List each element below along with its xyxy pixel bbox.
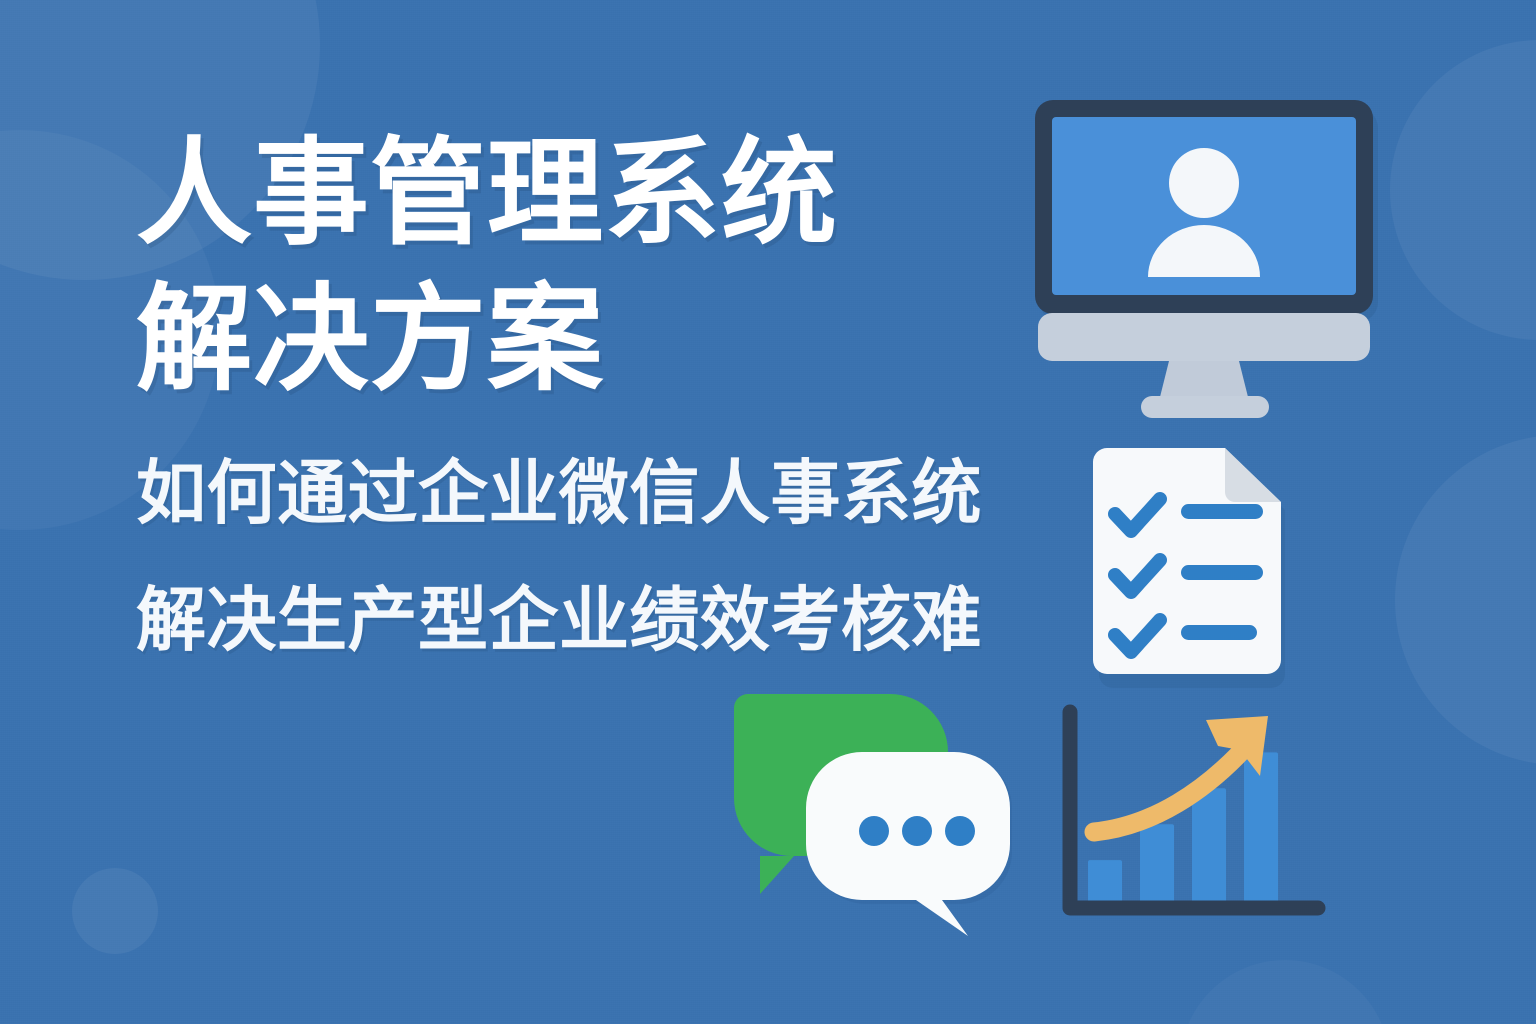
poster-title-line-1: 人事管理系统 (136, 120, 1096, 266)
chat-dot (859, 816, 889, 846)
monitor-stand-base (1141, 396, 1269, 418)
monitor-stand-neck (1159, 361, 1249, 401)
monitor-chin (1038, 313, 1370, 361)
document-line (1181, 625, 1257, 640)
checklist-document-icon (1093, 448, 1321, 688)
trend-arrow-icon (1094, 740, 1252, 832)
chart-bar (1140, 824, 1174, 902)
poster-subtitle-line-1: 如何通过企业微信人事系统 (136, 448, 1096, 539)
chat-bubbles-icon (712, 694, 1042, 937)
background-circle (72, 868, 158, 954)
poster-title-line-2: 解决方案 (136, 266, 1096, 412)
growth-chart-icon (1056, 706, 1336, 932)
document-fold-icon (1225, 448, 1281, 502)
document-line (1181, 565, 1263, 580)
monitor-user-icon (1035, 100, 1405, 418)
poster-canvas: 人事管理系统 解决方案 如何通过企业微信人事系统 解决生产型企业绩效考核难 (0, 0, 1536, 1024)
chart-bar (1192, 788, 1226, 902)
poster-text-block: 人事管理系统 解决方案 如何通过企业微信人事系统 解决生产型企业绩效考核难 (136, 120, 1096, 666)
chart-bar (1244, 752, 1278, 902)
background-circle (1180, 960, 1390, 1024)
chat-dot (902, 816, 932, 846)
chart-bar (1088, 860, 1122, 902)
background-circle (1395, 435, 1536, 765)
chat-bubble-white (806, 752, 1010, 936)
document-line (1181, 504, 1263, 519)
chat-dot (945, 816, 975, 846)
poster-subtitle-line-2: 解决生产型企业绩效考核难 (136, 575, 1096, 666)
background-circle (1390, 40, 1536, 340)
user-head (1169, 148, 1239, 218)
